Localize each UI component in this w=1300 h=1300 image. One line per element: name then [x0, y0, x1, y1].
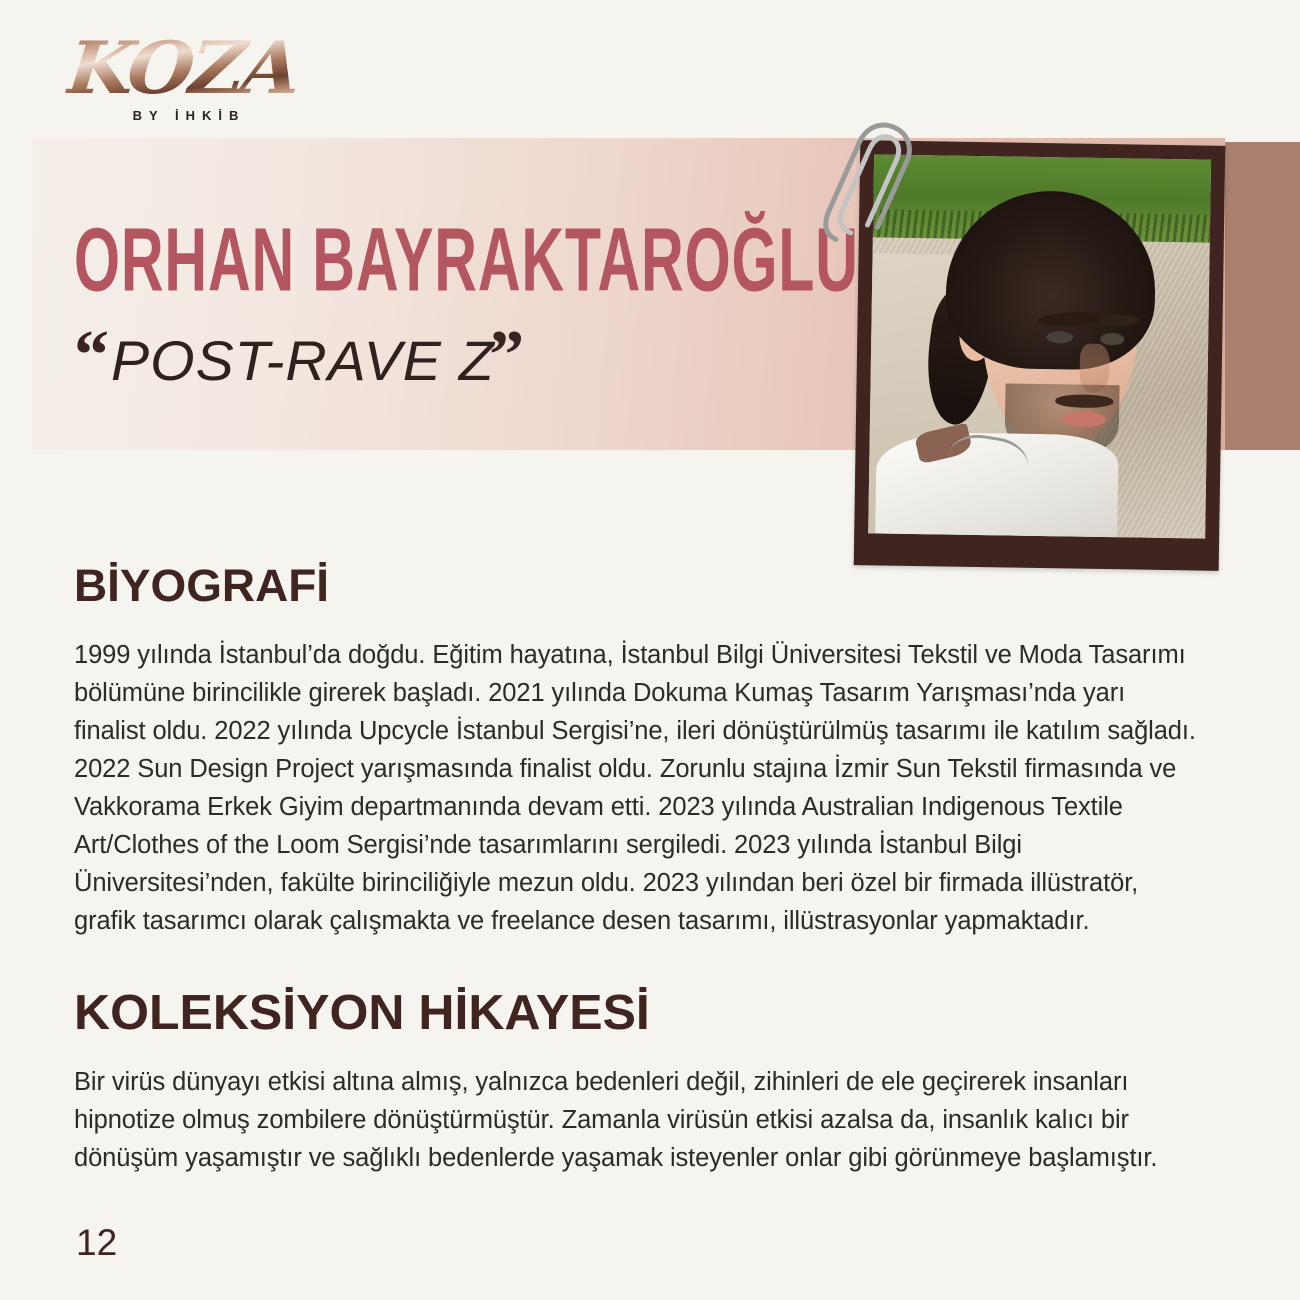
designer-name: ORHAN BAYRAKTAROĞLU: [74, 214, 682, 307]
page-canvas: KOZA BY İHKİB ORHAN BAYRAKTAROĞLU “ POST…: [0, 0, 1300, 1300]
biography-text: 1999 yılında İstanbul’da doğdu. Eğitim h…: [74, 636, 1202, 940]
collection-title: POST-RAVE Z: [111, 330, 495, 392]
designer-photo-frame: [854, 140, 1226, 571]
koza-logo: KOZA BY İHKİB: [72, 30, 312, 130]
photo-eye-right: [1100, 333, 1124, 345]
photo-moustache: [1056, 394, 1113, 408]
page-number: 12: [76, 1222, 117, 1264]
logo-subtitle: BY İHKİB: [94, 108, 284, 123]
collection-story-heading: KOLEKSİYON HİKAYESİ: [74, 985, 650, 1041]
logo-wordmark: KOZA: [64, 30, 326, 106]
designer-name-wrap: ORHAN BAYRAKTAROĞLU: [74, 222, 834, 298]
collection-title-wrap: “ POST-RAVE Z ”: [74, 330, 524, 392]
quote-open-mark: “: [74, 330, 109, 382]
designer-photo: [868, 154, 1211, 538]
biography-heading: BİYOGRAFİ: [74, 560, 329, 612]
right-accent-block: [1225, 142, 1300, 450]
collection-story-text: Bir virüs dünyayı etkisi altına almış, y…: [74, 1063, 1209, 1177]
